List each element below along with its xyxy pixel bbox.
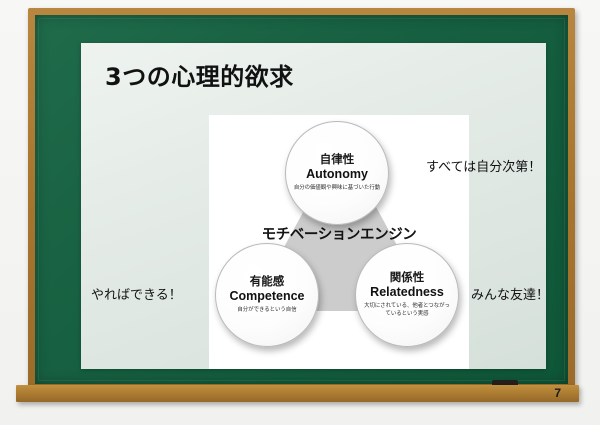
need-description-competence: 自分ができるという自信 [237, 307, 296, 315]
annotation-relatedness: みんな友達！ [471, 284, 546, 303]
need-label-jp-competence: 有能感 [250, 275, 285, 288]
diagram-panel: 自律性 Autonomy 自分の価値観や興味に基づいた行動 有能感 Compet… [209, 115, 469, 369]
need-circle-competence[interactable]: 有能感 Competence 自分ができるという自信 [215, 243, 319, 347]
motivation-engine-label: モチベーションエンジン [209, 223, 469, 244]
blackboard-wooden-frame: 3つの心理的欲求 自律性 Autonomy 自分の価値観や興味に基づいた行動 有… [28, 8, 575, 391]
blackboard-scene: 3つの心理的欲求 自律性 Autonomy 自分の価値観や興味に基づいた行動 有… [0, 0, 600, 425]
blackboard-surface: 3つの心理的欲求 自律性 Autonomy 自分の価値観や興味に基づいた行動 有… [35, 15, 568, 384]
need-label-en-competence: Competence [229, 289, 304, 305]
need-circle-relatedness[interactable]: 関係性 Relatedness 大切にされている、他者とつながっているという実感 [355, 243, 459, 347]
chalk-tray: 7 [16, 385, 579, 402]
need-description-autonomy: 自分の価値観や興味に基づいた行動 [294, 185, 380, 193]
need-description-relatedness: 大切にされている、他者とつながっているという実感 [363, 303, 451, 319]
need-label-jp-autonomy: 自律性 [320, 153, 355, 166]
annotation-competence: やればできる！ [91, 284, 182, 303]
need-circle-autonomy[interactable]: 自律性 Autonomy 自分の価値観や興味に基づいた行動 [285, 121, 389, 225]
need-label-jp-relatedness: 関係性 [390, 271, 425, 284]
annotation-autonomy: すべては自分次第！ [426, 156, 541, 175]
page-title: 3つの心理的欲求 [105, 57, 294, 92]
need-label-en-relatedness: Relatedness [370, 285, 444, 301]
page-number: 7 [554, 386, 561, 400]
presentation-slide: 3つの心理的欲求 自律性 Autonomy 自分の価値観や興味に基づいた行動 有… [81, 43, 546, 369]
need-label-en-autonomy: Autonomy [306, 167, 368, 183]
